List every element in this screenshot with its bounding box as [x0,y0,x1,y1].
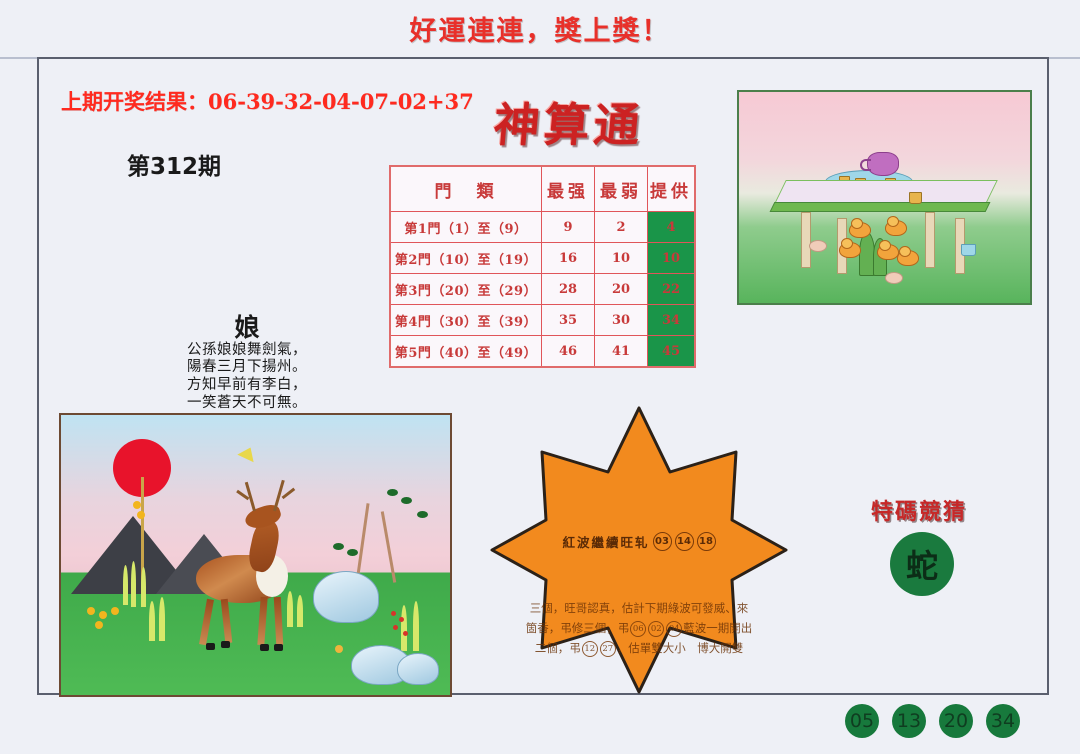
bird-shape [237,444,258,462]
cell-give: 22 [648,274,696,305]
cell-give: 34 [648,305,696,336]
grass-shape [149,601,155,641]
deer-leg-shape [221,599,233,643]
number-ball: 20 [939,704,973,738]
header-give: 提供 [648,166,696,212]
flower-shape [87,607,95,615]
table-row: 第1門（1）至（9） 9 2 4 [390,212,695,243]
teacup-shape [909,192,922,204]
table-leg-shape [801,212,811,268]
flower-shape [111,607,119,615]
lantern-shape [137,511,145,519]
lantern-shape [133,501,141,509]
starburst-callout: 紅波繼續旺轧 03 14 18 三個，旺哥認真，估計下期綠波可發威、來 箇香，弔… [489,400,789,700]
starburst-headline-label: 紅波繼續旺轧 [562,532,649,551]
last-draw-label: 上期开奖结果： [61,89,208,114]
starburst-body-text: 藍波一期開出 [683,621,752,635]
site-logo: 神算通 [491,89,647,155]
main-frame: 上期开奖结果：06-39-32-04-07-02+37 第312期 神算通 門 … [37,57,1049,695]
starburst-body-line: 箇香，弔修三個，弔060204藍波一期開出 [517,618,761,638]
deer-landscape-illustration [59,413,452,697]
starburst-ball: 18 [697,532,716,551]
grass-shape [159,597,165,641]
banner-title: 好運連連，獎上獎！ [410,9,671,48]
cell-strong: 16 [542,243,595,274]
starburst-inline-ball: 12 [582,641,598,657]
grass-shape [287,591,293,627]
starburst-body-text: 箇香，弔修三個，弔 [526,621,630,635]
chick-shape [849,222,871,238]
cell-weak: 10 [595,243,648,274]
hoof-shape [260,644,269,651]
starburst-inline-ball: 02 [648,621,664,637]
issue-number: 第312期 [127,147,221,181]
zodiac-badge: 蛇 [890,532,954,596]
leaf-shape [333,543,344,550]
leaf-shape [387,489,398,496]
leaf-shape [417,511,428,518]
starburst-body-text: 二個，弔 [535,641,581,655]
table-edge-shape [770,202,991,212]
bowl-shape [961,244,976,256]
poem-line: 一笑蒼天不可無。 [157,395,337,413]
cell-weak: 30 [595,305,648,336]
top-banner: 好運連連，獎上獎！ [0,0,1080,59]
branch-shape [381,511,396,582]
gate-statistics-table: 門 類 最强 最弱 提供 第1門（1）至（9） 9 2 4 第2門（10）至（1… [389,165,696,368]
number-ball: 34 [986,704,1020,738]
cell-strong: 9 [542,212,595,243]
table-header-row: 門 類 最强 最弱 提供 [390,166,695,212]
table-row: 第5門（40）至（49） 46 41 45 [390,336,695,368]
grass-shape [141,567,146,607]
cell-category: 第1門（1）至（9） [390,212,542,243]
berry-shape [391,611,396,616]
egg-shape [809,240,827,252]
berry-shape [393,625,398,630]
header-weak: 最弱 [595,166,648,212]
chick-shape [897,250,919,266]
poem-block: 娘 公孫娘娘舞劍氣， 陽春三月下揚州。 方知早前有李白， 一笑蒼天不可無。 [157,314,337,412]
starburst-body: 三個，旺哥認真，估計下期綠波可發威、來 箇香，弔修三個，弔060204藍波一期開… [517,598,761,658]
grass-shape [413,601,419,651]
flower-shape [99,611,107,619]
starburst-inline-ball: 27 [600,641,616,657]
starburst-inline-ball: 06 [630,621,646,637]
starburst-body-line: 二個，弔1227，估單雙大小 博大開雙 [517,638,761,658]
tema-guess-title: 特碼競猜 [829,494,1009,526]
rock-shape [397,653,439,685]
cell-weak: 41 [595,336,648,368]
starburst-body-text: ，估單雙大小 博大開雙 [617,641,744,655]
cell-strong: 35 [542,305,595,336]
poem-line: 公孫娘娘舞劍氣， [157,342,337,360]
leaf-shape [347,549,358,556]
cell-strong: 28 [542,274,595,305]
last-draw-numbers: 06-39-32-04-07-02+37 [208,89,474,114]
number-ball: 13 [892,704,926,738]
cell-strong: 46 [542,336,595,368]
leaf-shape [401,497,412,504]
starburst-ball: 14 [675,532,694,551]
grass-shape [401,605,407,651]
header-strong: 最强 [542,166,595,212]
cell-give: 10 [648,243,696,274]
cell-category: 第2門（10）至（19） [390,243,542,274]
grass-shape [131,561,136,607]
egg-shape [885,272,903,284]
recommended-numbers: 05 13 20 34 [845,704,1020,738]
cell-category: 第3門（20）至（29） [390,274,542,305]
cell-give: 4 [648,212,696,243]
cell-category: 第4門（30）至（39） [390,305,542,336]
cell-weak: 2 [595,212,648,243]
deer-leg-shape [199,599,214,646]
poem-line: 陽春三月下揚州。 [157,359,337,377]
poem-lines: 公孫娘娘舞劍氣， 陽春三月下揚州。 方知早前有李白， 一笑蒼天不可無。 [157,342,337,413]
grass-shape [123,565,128,605]
deer-leg-shape [274,597,284,645]
tea-table-illustration [737,90,1032,305]
teapot-shape [867,152,899,176]
starburst-text: 紅波繼續旺轧 03 14 18 三個，旺哥認真，估計下期綠波可發威、來 箇香，弔… [489,400,789,700]
header-category: 門 類 [390,166,542,212]
grass-shape [297,595,303,627]
cell-category: 第5門（40）至（49） [390,336,542,368]
poem-line: 方知早前有李白， [157,377,337,395]
table-row: 第3門（20）至（29） 28 20 22 [390,274,695,305]
table-row: 第2門（10）至（19） 16 10 10 [390,243,695,274]
last-draw-result: 上期开奖结果：06-39-32-04-07-02+37 [61,86,474,116]
chick-shape [839,242,861,258]
starburst-inline-ball: 04 [666,621,682,637]
table-leg-shape [925,212,935,268]
flower-shape [95,621,103,629]
hoof-shape [274,644,283,651]
deer-leg-shape [257,597,267,645]
berry-shape [403,631,408,636]
starburst-headline: 紅波繼續旺轧 03 14 18 [489,532,789,551]
hoof-shape [221,641,230,648]
table-row: 第4門（30）至（39） 35 30 34 [390,305,695,336]
cell-give: 45 [648,336,696,368]
starburst-ball: 03 [653,532,672,551]
rock-shape [313,571,379,623]
hoof-shape [206,643,215,650]
berry-shape [399,617,404,622]
poem-title: 娘 [157,314,337,342]
chick-shape [885,220,907,236]
number-ball: 05 [845,704,879,738]
cell-weak: 20 [595,274,648,305]
chick-shape [877,244,899,260]
branch-shape [355,503,369,583]
flower-shape [335,645,343,653]
antler-shape [282,488,296,500]
starburst-body-line: 三個，旺哥認真，估計下期綠波可發威、來 [517,598,761,618]
